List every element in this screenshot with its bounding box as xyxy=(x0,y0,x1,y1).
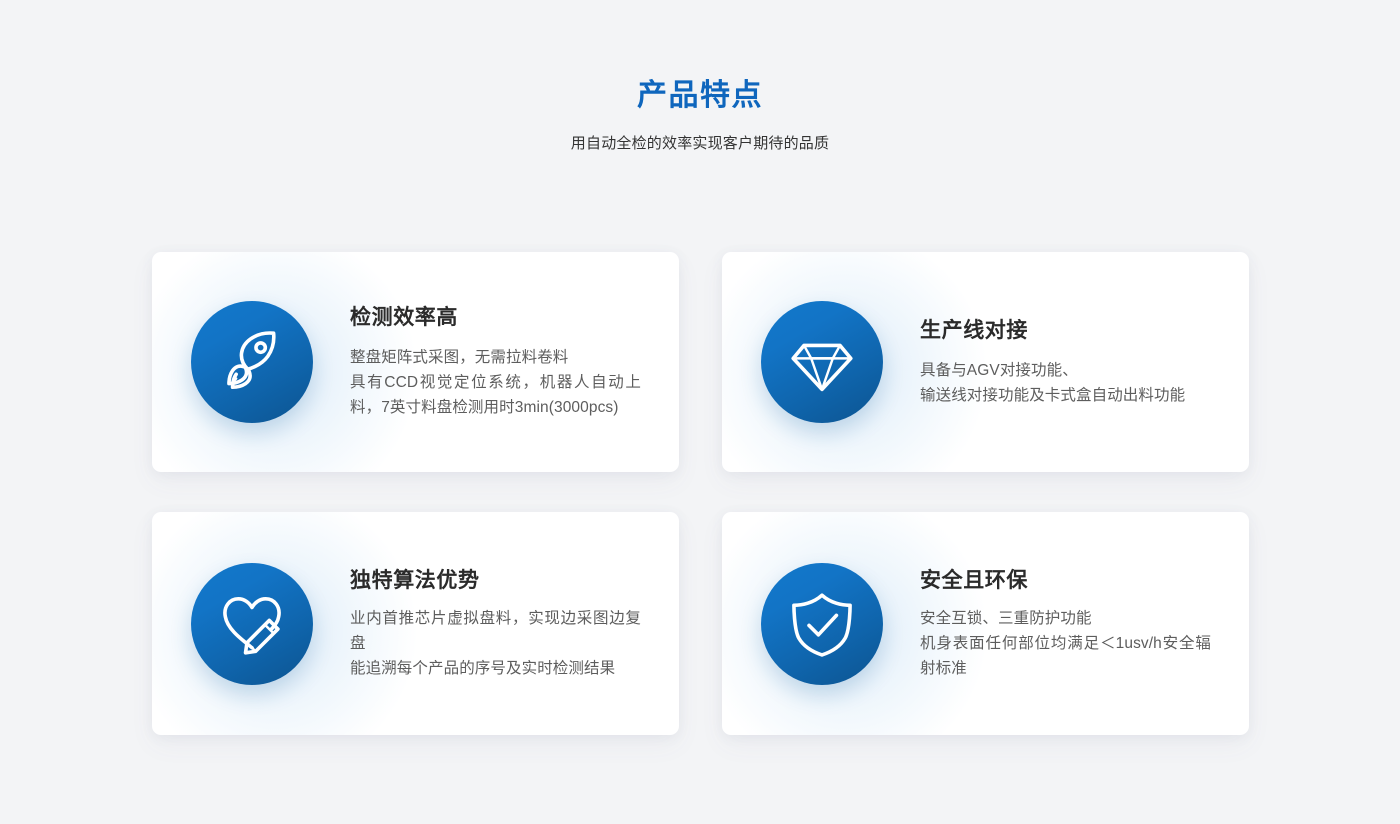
feature-card-text: 安全互锁、三重防护功能 机身表面任何部位均满足＜1usv/h安全辐射标准 xyxy=(920,606,1211,681)
page-subtitle: 用自动全检的效率实现客户期待的品质 xyxy=(0,133,1400,155)
feature-card-grid: 检测效率高 整盘矩阵式采图，无需拉料卷料 具有CCD视觉定位系统，机器人自动上料… xyxy=(152,252,1249,735)
feature-card-content: 生产线对接 具备与AGV对接功能、 输送线对接功能及卡式盒自动出料功能 xyxy=(888,317,1249,408)
icon-circle xyxy=(761,301,883,423)
feature-icon-wrapper xyxy=(756,563,888,685)
feature-icon-wrapper xyxy=(756,301,888,423)
feature-card-title: 生产线对接 xyxy=(920,317,1211,345)
feature-card-title: 独特算法优势 xyxy=(350,567,641,595)
product-features-page: 产品特点 用自动全检的效率实现客户期待的品质 检测效率高 整盘矩阵式采图 xyxy=(0,0,1400,824)
feature-card-detection-efficiency[interactable]: 检测效率高 整盘矩阵式采图，无需拉料卷料 具有CCD视觉定位系统，机器人自动上料… xyxy=(152,252,679,472)
shield-check-icon xyxy=(786,588,858,660)
feature-card-title: 检测效率高 xyxy=(350,304,641,332)
feature-card-content: 独特算法优势 业内首推芯片虚拟盘料，实现边采图边复盘 能追溯每个产品的序号及实时… xyxy=(318,567,679,681)
icon-circle xyxy=(761,563,883,685)
heart-pencil-icon xyxy=(216,588,288,660)
feature-icon-wrapper xyxy=(186,563,318,685)
feature-card-safety[interactable]: 安全且环保 安全互锁、三重防护功能 机身表面任何部位均满足＜1usv/h安全辐射… xyxy=(722,512,1249,735)
section-header: 产品特点 用自动全检的效率实现客户期待的品质 xyxy=(0,0,1400,155)
feature-card-production-line[interactable]: 生产线对接 具备与AGV对接功能、 输送线对接功能及卡式盒自动出料功能 xyxy=(722,252,1249,472)
feature-icon-wrapper xyxy=(186,301,318,423)
diamond-icon xyxy=(786,326,858,398)
feature-card-text: 业内首推芯片虚拟盘料，实现边采图边复盘 能追溯每个产品的序号及实时检测结果 xyxy=(350,606,641,681)
feature-card-text: 具备与AGV对接功能、 输送线对接功能及卡式盒自动出料功能 xyxy=(920,358,1211,408)
feature-card-title: 安全且环保 xyxy=(920,567,1211,595)
icon-circle xyxy=(191,301,313,423)
feature-card-content: 安全且环保 安全互锁、三重防护功能 机身表面任何部位均满足＜1usv/h安全辐射… xyxy=(888,567,1249,681)
feature-card-text: 整盘矩阵式采图，无需拉料卷料 具有CCD视觉定位系统，机器人自动上料，7英寸料盘… xyxy=(350,345,641,420)
rocket-icon xyxy=(216,326,288,398)
page-title: 产品特点 xyxy=(0,76,1400,116)
feature-card-algorithm[interactable]: 独特算法优势 业内首推芯片虚拟盘料，实现边采图边复盘 能追溯每个产品的序号及实时… xyxy=(152,512,679,735)
feature-card-content: 检测效率高 整盘矩阵式采图，无需拉料卷料 具有CCD视觉定位系统，机器人自动上料… xyxy=(318,304,679,420)
icon-circle xyxy=(191,563,313,685)
